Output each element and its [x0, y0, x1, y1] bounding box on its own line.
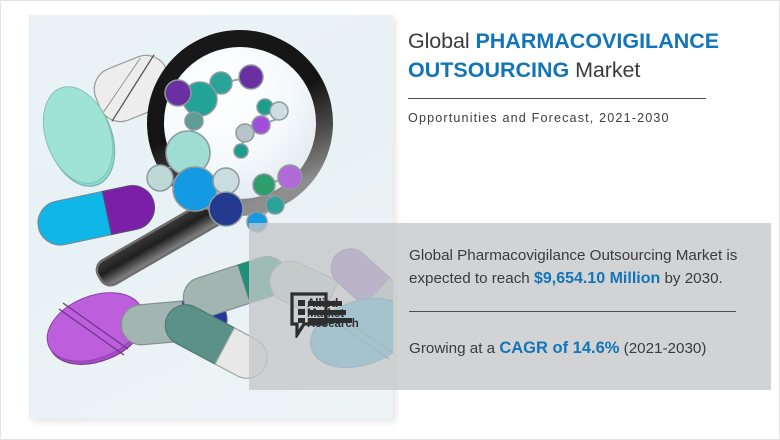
logo-mark: Allied Market Research — [290, 292, 376, 338]
cagr-suffix: (2021-2030) — [619, 340, 706, 357]
illustration-panel — [29, 15, 393, 419]
cagr-statement: Growing at a CAGR of 14.6% (2021-2030) — [409, 339, 754, 358]
divider-middle — [409, 311, 736, 312]
headline-trail: Market — [569, 58, 640, 82]
cagr-prefix: Growing at a — [409, 340, 499, 357]
pills-and-magnifier-illustration — [29, 15, 393, 419]
market-report-banner: Allied Market Research Global PHARMACOVI… — [0, 0, 780, 440]
subtitle: Opportunities and Forecast, 2021-2030 — [408, 111, 748, 125]
headline-emphasis-secondary: OUTSOURCING — [408, 58, 569, 82]
allied-market-research-logo: Allied Market Research — [290, 292, 376, 338]
stat-value: $9,654.10 Million — [534, 270, 660, 287]
market-value-statement: Global Pharmacovigilance Outsourcing Mar… — [409, 244, 754, 290]
divider-top — [408, 98, 706, 99]
cagr-value: CAGR of 14.6% — [499, 339, 619, 357]
stat-suffix: by 2030. — [660, 270, 723, 287]
headline-lead: Global — [408, 29, 475, 53]
headline-emphasis-primary: PHARMACOVIGILANCE — [475, 29, 719, 53]
page-title: Global PHARMACOVIGILANCE OUTSOURCING Mar… — [408, 27, 758, 85]
logo-line-3: Research — [307, 318, 359, 330]
